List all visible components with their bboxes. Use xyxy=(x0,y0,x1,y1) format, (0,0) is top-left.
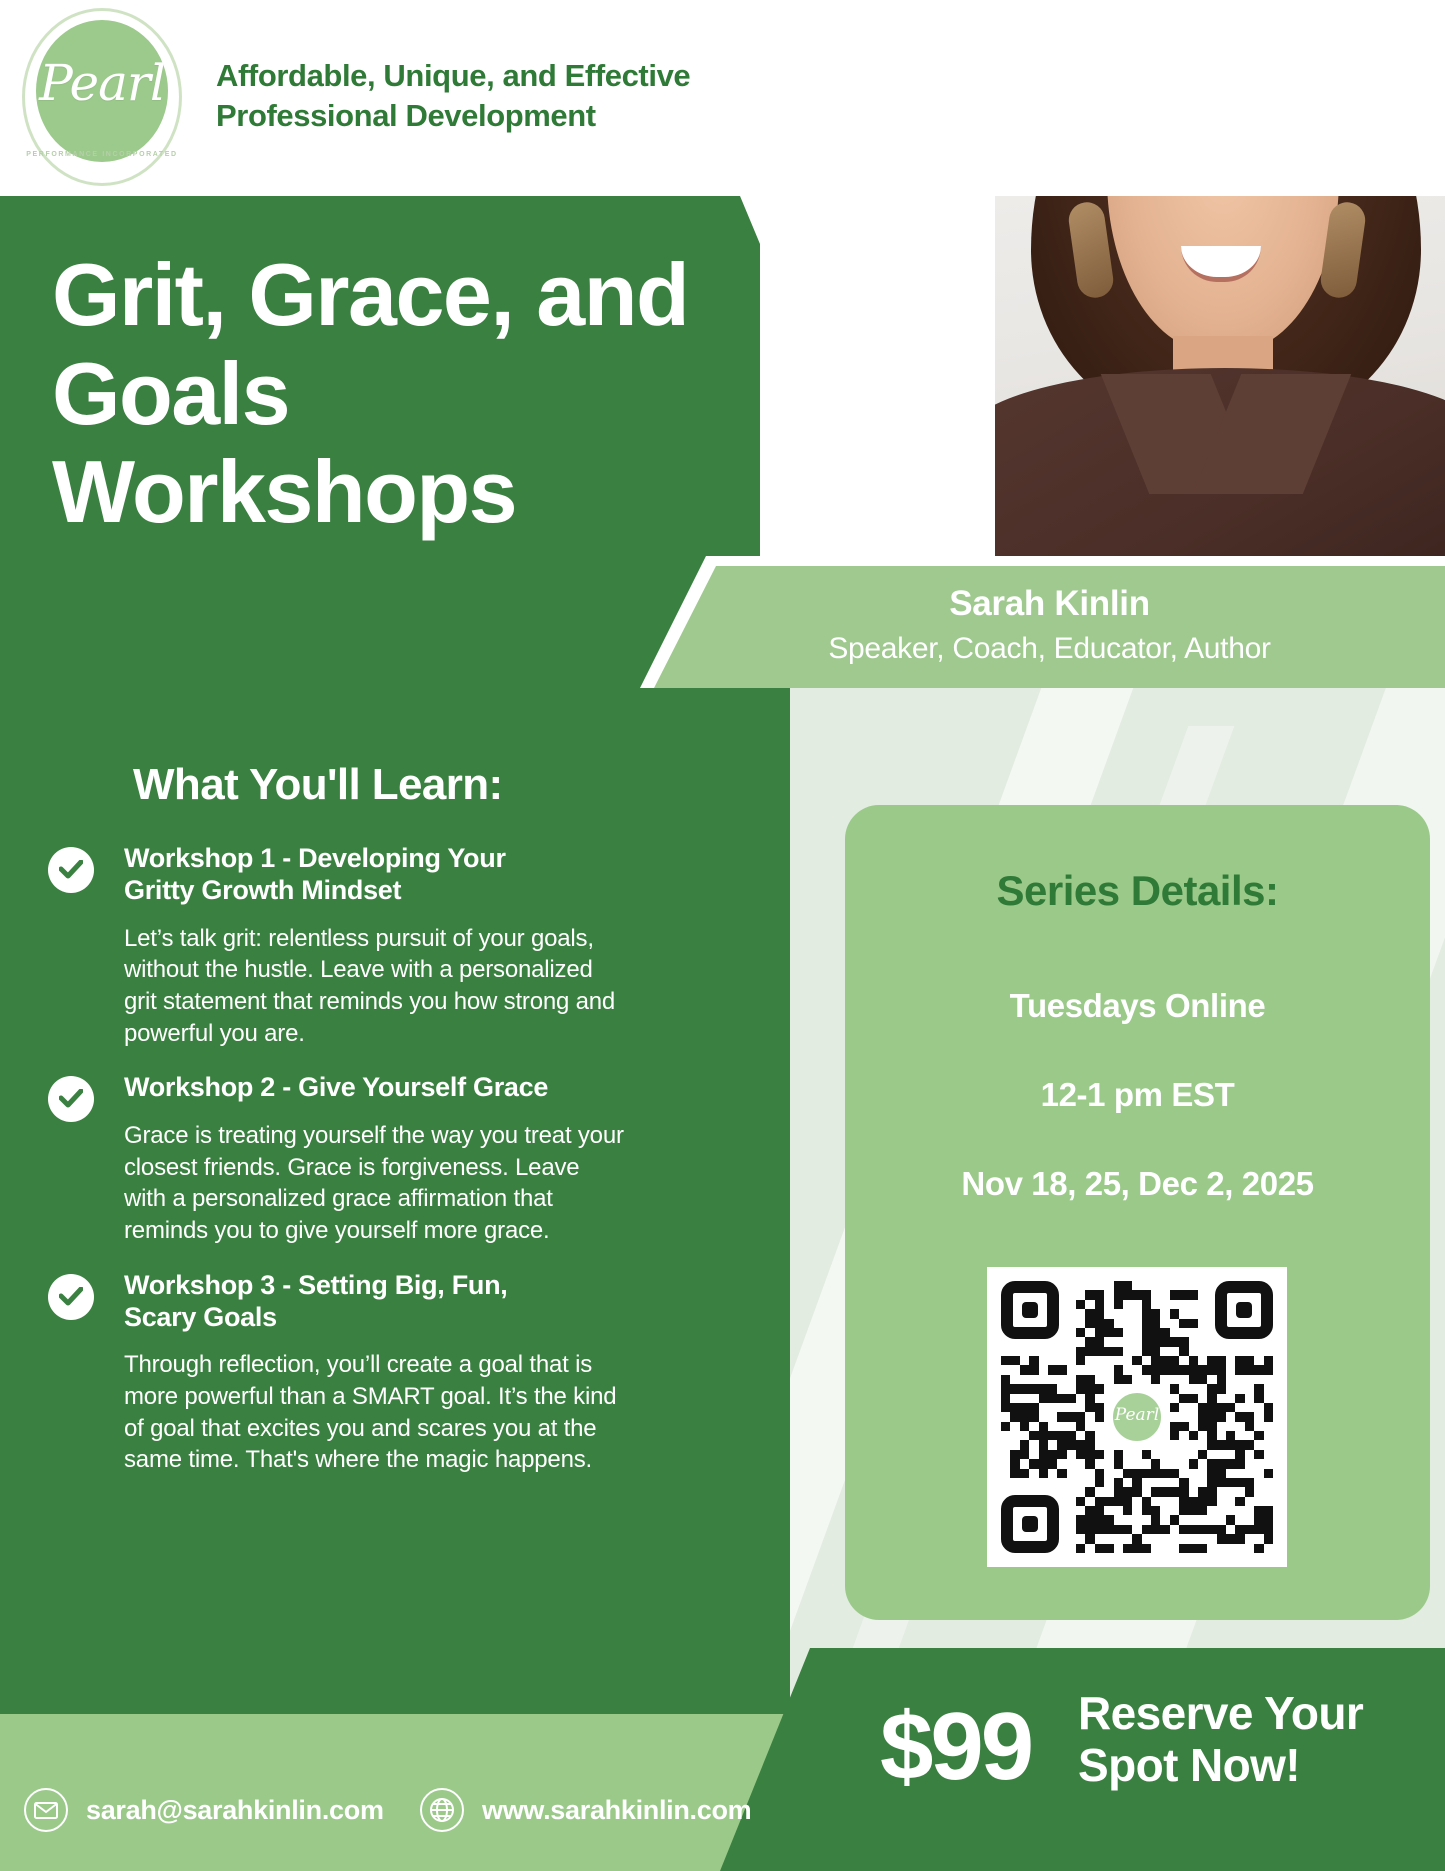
qr-module xyxy=(1039,1431,1048,1440)
qr-module xyxy=(1254,1431,1263,1440)
qr-module xyxy=(1020,1365,1029,1374)
qr-module xyxy=(1048,1394,1057,1403)
qr-module xyxy=(1085,1375,1094,1384)
qr-module xyxy=(1085,1384,1094,1393)
qr-module xyxy=(1189,1365,1198,1374)
qr-code[interactable]: Pearl xyxy=(987,1267,1287,1567)
qr-module xyxy=(1179,1319,1188,1328)
qr-module xyxy=(1020,1440,1029,1449)
qr-module xyxy=(1104,1347,1113,1356)
qr-module xyxy=(1189,1525,1198,1534)
qr-module xyxy=(1170,1487,1179,1496)
qr-module xyxy=(1151,1459,1160,1468)
qr-module xyxy=(1029,1431,1038,1440)
qr-module xyxy=(1039,1450,1048,1459)
qr-module xyxy=(1160,1328,1169,1337)
qr-module xyxy=(1198,1403,1207,1412)
qr-module xyxy=(1254,1525,1263,1534)
qr-module xyxy=(1179,1478,1188,1487)
qr-module xyxy=(1076,1515,1085,1524)
qr-module xyxy=(1029,1356,1038,1365)
qr-module xyxy=(1189,1356,1198,1365)
qr-module xyxy=(1189,1375,1198,1384)
qr-module xyxy=(1076,1422,1085,1431)
qr-module xyxy=(1085,1290,1094,1299)
qr-module xyxy=(1142,1328,1151,1337)
qr-module xyxy=(1151,1487,1160,1496)
qr-module xyxy=(1001,1403,1010,1412)
qr-module xyxy=(1217,1534,1226,1543)
qr-module xyxy=(1254,1384,1263,1393)
qr-module xyxy=(1160,1337,1169,1346)
qr-module xyxy=(1170,1384,1179,1393)
qr-module xyxy=(1010,1384,1019,1393)
email-icon xyxy=(24,1788,68,1832)
qr-module xyxy=(1189,1497,1198,1506)
qr-module xyxy=(1085,1431,1094,1440)
qr-module xyxy=(1142,1525,1151,1534)
qr-module xyxy=(1039,1440,1048,1449)
qr-module xyxy=(1123,1290,1132,1299)
qr-module xyxy=(1085,1403,1094,1412)
qr-module xyxy=(1160,1365,1169,1374)
qr-module xyxy=(1226,1403,1235,1412)
qr-module xyxy=(1226,1534,1235,1543)
cta-text: Reserve Your Spot Now! xyxy=(1078,1688,1363,1792)
qr-module xyxy=(1151,1356,1160,1365)
qr-module xyxy=(1132,1544,1141,1553)
list-item: Workshop 2 - Give Yourself Grace Grace i… xyxy=(48,1071,748,1246)
qr-module xyxy=(1151,1347,1160,1356)
qr-module xyxy=(1076,1300,1085,1309)
qr-module xyxy=(1085,1440,1094,1449)
qr-module xyxy=(1170,1337,1179,1346)
workshop-title: Workshop 2 - Give Yourself Grace xyxy=(124,1071,748,1103)
qr-module xyxy=(1085,1459,1094,1468)
qr-module xyxy=(1207,1384,1216,1393)
qr-module xyxy=(1104,1544,1113,1553)
qr-module xyxy=(1076,1328,1085,1337)
qr-module xyxy=(1142,1300,1151,1309)
qr-module xyxy=(1235,1412,1244,1421)
qr-module xyxy=(1235,1450,1244,1459)
check-circle-icon xyxy=(48,847,94,893)
list-item: Workshop 3 - Setting Big, Fun, Scary Goa… xyxy=(48,1269,748,1476)
qr-module xyxy=(1114,1487,1123,1496)
qr-module xyxy=(1085,1450,1094,1459)
qr-module xyxy=(1170,1356,1179,1365)
qr-module xyxy=(1132,1356,1141,1365)
qr-module xyxy=(1217,1365,1226,1374)
qr-module xyxy=(1198,1365,1207,1374)
qr-module xyxy=(1170,1290,1179,1299)
qr-center-logo: Pearl xyxy=(1109,1389,1165,1445)
qr-module xyxy=(1235,1497,1244,1506)
qr-module xyxy=(1179,1544,1188,1553)
qr-module xyxy=(1123,1487,1132,1496)
qr-module xyxy=(1114,1300,1123,1309)
qr-module xyxy=(1151,1525,1160,1534)
qr-module xyxy=(1160,1469,1169,1478)
qr-module xyxy=(1170,1365,1179,1374)
qr-module xyxy=(1010,1450,1019,1459)
qr-module xyxy=(1217,1459,1226,1468)
qr-module xyxy=(1010,1356,1019,1365)
qr-module xyxy=(1198,1375,1207,1384)
qr-module xyxy=(1235,1356,1244,1365)
qr-module xyxy=(1076,1544,1085,1553)
qr-module xyxy=(1254,1394,1263,1403)
qr-module xyxy=(1170,1309,1179,1318)
qr-module xyxy=(1217,1403,1226,1412)
qr-module xyxy=(1132,1469,1141,1478)
list-item: Workshop 1 - Developing Your Gritty Grow… xyxy=(48,842,748,1049)
qr-module xyxy=(1085,1309,1094,1318)
qr-module xyxy=(1170,1403,1179,1412)
qr-module xyxy=(1076,1497,1085,1506)
qr-module xyxy=(1095,1347,1104,1356)
qr-module xyxy=(1057,1450,1066,1459)
qr-module xyxy=(1264,1365,1273,1374)
qr-module xyxy=(1095,1515,1104,1524)
qr-module xyxy=(1114,1281,1123,1290)
qr-module xyxy=(1245,1422,1254,1431)
qr-module xyxy=(1010,1469,1019,1478)
qr-module xyxy=(1245,1487,1254,1496)
qr-module xyxy=(1057,1412,1066,1421)
qr-module xyxy=(1151,1515,1160,1524)
contact-website[interactable]: www.sarahkinlin.com xyxy=(420,1788,751,1832)
qr-module xyxy=(1198,1544,1207,1553)
qr-module xyxy=(1151,1309,1160,1318)
qr-module xyxy=(1207,1431,1216,1440)
qr-module xyxy=(1029,1403,1038,1412)
logo-arc-text: PERFORMANCE INCORPORATED xyxy=(22,151,182,158)
qr-module xyxy=(1264,1469,1273,1478)
qr-module xyxy=(1001,1375,1010,1384)
qr-module xyxy=(1226,1431,1235,1440)
qr-module xyxy=(1217,1412,1226,1421)
qr-module xyxy=(1254,1506,1263,1515)
qr-module xyxy=(1095,1384,1104,1393)
qr-finder-top-left xyxy=(1001,1281,1059,1339)
price-amount: $99 xyxy=(880,1692,1031,1802)
qr-module xyxy=(1217,1356,1226,1365)
check-circle-icon xyxy=(48,1274,94,1320)
series-detail-schedule: Tuesdays Online xyxy=(845,987,1430,1025)
qr-module xyxy=(1235,1365,1244,1374)
qr-module xyxy=(1123,1544,1132,1553)
qr-module xyxy=(1001,1422,1010,1431)
qr-module xyxy=(1264,1356,1273,1365)
qr-module xyxy=(1179,1497,1188,1506)
qr-module xyxy=(1235,1534,1244,1543)
qr-module xyxy=(1151,1365,1160,1374)
qr-module xyxy=(1095,1506,1104,1515)
qr-module xyxy=(1235,1478,1244,1487)
qr-module xyxy=(1245,1440,1254,1449)
qr-module xyxy=(1254,1450,1263,1459)
qr-module xyxy=(1142,1347,1151,1356)
qr-module xyxy=(1132,1534,1141,1543)
qr-module xyxy=(1001,1394,1010,1403)
qr-module xyxy=(1226,1515,1235,1524)
qr-module xyxy=(1095,1450,1104,1459)
workshop-body: Let’s talk grit: relentless pursuit of y… xyxy=(124,923,624,1050)
qr-module xyxy=(1142,1290,1151,1299)
header: Pearl PERFORMANCE INCORPORATED Affordabl… xyxy=(0,0,1445,196)
qr-module xyxy=(1179,1394,1188,1403)
workshop-title: Workshop 1 - Developing Your Gritty Grow… xyxy=(124,842,748,907)
qr-module xyxy=(1132,1478,1141,1487)
qr-module xyxy=(1142,1309,1151,1318)
qr-module xyxy=(1057,1469,1066,1478)
qr-module xyxy=(1207,1459,1216,1468)
cta-line-1: Reserve Your xyxy=(1078,1688,1363,1740)
qr-module xyxy=(1057,1440,1066,1449)
qr-module xyxy=(1057,1394,1066,1403)
qr-module xyxy=(1179,1365,1188,1374)
qr-module xyxy=(1264,1403,1273,1412)
qr-module xyxy=(1067,1431,1076,1440)
qr-module xyxy=(1076,1440,1085,1449)
qr-module xyxy=(1085,1506,1094,1515)
qr-module xyxy=(1207,1356,1216,1365)
qr-module xyxy=(1170,1431,1179,1440)
qr-module xyxy=(1076,1347,1085,1356)
qr-module xyxy=(1085,1525,1094,1534)
qr-module xyxy=(1076,1525,1085,1534)
qr-module xyxy=(1114,1525,1123,1534)
qr-module xyxy=(1132,1290,1141,1299)
pearl-logo: Pearl PERFORMANCE INCORPORATED xyxy=(22,8,182,186)
qr-center-logo-text: Pearl xyxy=(1113,1405,1161,1425)
qr-module xyxy=(1245,1365,1254,1374)
qr-module xyxy=(1095,1497,1104,1506)
qr-module xyxy=(1123,1281,1132,1290)
qr-module xyxy=(1170,1515,1179,1524)
qr-module xyxy=(1189,1431,1198,1440)
qr-module xyxy=(1142,1497,1151,1506)
qr-module xyxy=(1198,1450,1207,1459)
speaker-role: Speaker, Coach, Educator, Author xyxy=(654,632,1445,666)
qr-module xyxy=(1123,1469,1132,1478)
qr-module xyxy=(1020,1412,1029,1421)
qr-module xyxy=(1207,1394,1216,1403)
qr-module xyxy=(1123,1375,1132,1384)
qr-module xyxy=(1020,1450,1029,1459)
qr-module xyxy=(1151,1328,1160,1337)
qr-module xyxy=(1179,1525,1188,1534)
qr-module xyxy=(1264,1412,1273,1421)
qr-module xyxy=(1217,1469,1226,1478)
qr-module xyxy=(1095,1412,1104,1421)
qr-module xyxy=(1235,1440,1244,1449)
qr-module xyxy=(1189,1290,1198,1299)
qr-module xyxy=(1179,1422,1188,1431)
qr-module xyxy=(1114,1328,1123,1337)
qr-module xyxy=(1226,1440,1235,1449)
qr-module xyxy=(1264,1506,1273,1515)
qr-module xyxy=(1179,1337,1188,1346)
flyer-page: Pearl PERFORMANCE INCORPORATED Affordabl… xyxy=(0,0,1445,1871)
qr-module xyxy=(1207,1469,1216,1478)
qr-module xyxy=(1123,1497,1132,1506)
qr-module xyxy=(1245,1356,1254,1365)
qr-module xyxy=(1235,1394,1244,1403)
qr-module xyxy=(1264,1525,1273,1534)
qr-module xyxy=(1217,1440,1226,1449)
logo-script-text: Pearl xyxy=(22,54,182,112)
qr-module xyxy=(1142,1337,1151,1346)
qr-module xyxy=(1217,1375,1226,1384)
qr-module xyxy=(1114,1450,1123,1459)
qr-module xyxy=(1207,1440,1216,1449)
workshop-title: Workshop 3 - Setting Big, Fun, Scary Goa… xyxy=(124,1269,748,1334)
qr-module xyxy=(1198,1506,1207,1515)
qr-grid: Pearl xyxy=(1001,1281,1273,1553)
qr-module xyxy=(1207,1422,1216,1431)
qr-module xyxy=(1104,1328,1113,1337)
qr-module xyxy=(1179,1290,1188,1299)
qr-module xyxy=(1114,1459,1123,1468)
qr-module xyxy=(1189,1544,1198,1553)
qr-module xyxy=(1132,1487,1141,1496)
qr-module xyxy=(1245,1412,1254,1421)
qr-module xyxy=(1207,1365,1216,1374)
qr-module xyxy=(1151,1506,1160,1515)
series-detail-time: 12-1 pm EST xyxy=(845,1076,1430,1114)
qr-module xyxy=(1020,1422,1029,1431)
qr-module xyxy=(1160,1487,1169,1496)
qr-module xyxy=(1160,1356,1169,1365)
qr-module xyxy=(1151,1319,1160,1328)
workshop-list: Workshop 1 - Developing Your Gritty Grow… xyxy=(48,842,748,1498)
qr-module xyxy=(1010,1403,1019,1412)
qr-module xyxy=(1085,1347,1094,1356)
qr-module xyxy=(1095,1469,1104,1478)
page-title: Grit, Grace, and Goals Workshops xyxy=(52,246,692,542)
speaker-banner-fill: Sarah Kinlin Speaker, Coach, Educator, A… xyxy=(654,566,1445,688)
qr-module xyxy=(1095,1403,1104,1412)
qr-module xyxy=(1142,1506,1151,1515)
qr-module xyxy=(1123,1525,1132,1534)
qr-module xyxy=(1235,1459,1244,1468)
qr-module xyxy=(1226,1478,1235,1487)
qr-module xyxy=(1039,1422,1048,1431)
qr-module xyxy=(1235,1525,1244,1534)
qr-module xyxy=(1245,1525,1254,1534)
qr-module xyxy=(1085,1319,1094,1328)
qr-module xyxy=(1207,1525,1216,1534)
check-circle-icon xyxy=(48,1076,94,1122)
qr-module xyxy=(1142,1319,1151,1328)
qr-module xyxy=(1076,1412,1085,1421)
qr-module xyxy=(1114,1375,1123,1384)
qr-module xyxy=(1085,1515,1094,1524)
qr-module xyxy=(1207,1412,1216,1421)
qr-finder-bottom-left xyxy=(1001,1495,1059,1553)
qr-module xyxy=(1198,1422,1207,1431)
globe-icon xyxy=(420,1788,464,1832)
qr-module xyxy=(1104,1497,1113,1506)
qr-module xyxy=(1010,1459,1019,1468)
qr-module xyxy=(1254,1544,1263,1553)
qr-module xyxy=(1114,1365,1123,1374)
learn-heading: What You'll Learn: xyxy=(133,760,503,810)
qr-module xyxy=(1085,1337,1094,1346)
qr-module xyxy=(1057,1365,1066,1374)
qr-module xyxy=(1160,1525,1169,1534)
qr-module xyxy=(1198,1487,1207,1496)
qr-module xyxy=(1142,1365,1151,1374)
qr-module xyxy=(1039,1394,1048,1403)
qr-module xyxy=(1104,1525,1113,1534)
qr-module xyxy=(1076,1384,1085,1393)
brand-tagline: Affordable, Unique, and Effective Profes… xyxy=(216,56,816,135)
qr-module xyxy=(1114,1290,1123,1299)
qr-module xyxy=(1254,1365,1263,1374)
qr-module xyxy=(1020,1403,1029,1412)
workshop-body: Grace is treating yourself the way you t… xyxy=(124,1120,624,1247)
contact-website-text: www.sarahkinlin.com xyxy=(482,1795,751,1826)
contact-email[interactable]: sarah@sarahkinlin.com xyxy=(24,1788,384,1832)
qr-module xyxy=(1217,1478,1226,1487)
qr-module xyxy=(1095,1337,1104,1346)
qr-module xyxy=(1067,1412,1076,1421)
qr-module xyxy=(1198,1525,1207,1534)
qr-module xyxy=(1207,1487,1216,1496)
qr-module xyxy=(1095,1319,1104,1328)
qr-module xyxy=(1170,1422,1179,1431)
qr-module xyxy=(1264,1515,1273,1524)
qr-module xyxy=(1114,1497,1123,1506)
qr-module xyxy=(1179,1487,1188,1496)
qr-module xyxy=(1142,1469,1151,1478)
qr-module xyxy=(1095,1525,1104,1534)
qr-module xyxy=(1254,1515,1263,1524)
qr-module xyxy=(1095,1309,1104,1318)
speaker-banner: Sarah Kinlin Speaker, Coach, Educator, A… xyxy=(640,556,1445,688)
qr-module xyxy=(1198,1497,1207,1506)
series-detail-dates: Nov 18, 25, Dec 2, 2025 xyxy=(845,1165,1430,1203)
qr-module xyxy=(1048,1459,1057,1468)
qr-module xyxy=(1085,1394,1094,1403)
qr-module xyxy=(1010,1412,1019,1421)
qr-module xyxy=(1076,1450,1085,1459)
qr-module xyxy=(1189,1319,1198,1328)
qr-module xyxy=(1104,1319,1113,1328)
qr-module xyxy=(1207,1403,1216,1412)
qr-module xyxy=(1095,1300,1104,1309)
qr-module xyxy=(1057,1431,1066,1440)
speaker-name: Sarah Kinlin xyxy=(654,584,1445,624)
series-details-card: Series Details: Tuesdays Online 12-1 pm … xyxy=(845,805,1430,1620)
qr-module xyxy=(1151,1469,1160,1478)
qr-module xyxy=(1076,1356,1085,1365)
qr-module xyxy=(1001,1384,1010,1393)
qr-module xyxy=(1048,1365,1057,1374)
qr-module xyxy=(1151,1375,1160,1384)
qr-module xyxy=(1179,1506,1188,1515)
qr-module xyxy=(1179,1347,1188,1356)
qr-module xyxy=(1048,1384,1057,1393)
qr-module xyxy=(1245,1478,1254,1487)
qr-module xyxy=(1048,1431,1057,1440)
qr-module xyxy=(1039,1469,1048,1478)
qr-module xyxy=(1114,1347,1123,1356)
qr-module xyxy=(1095,1478,1104,1487)
